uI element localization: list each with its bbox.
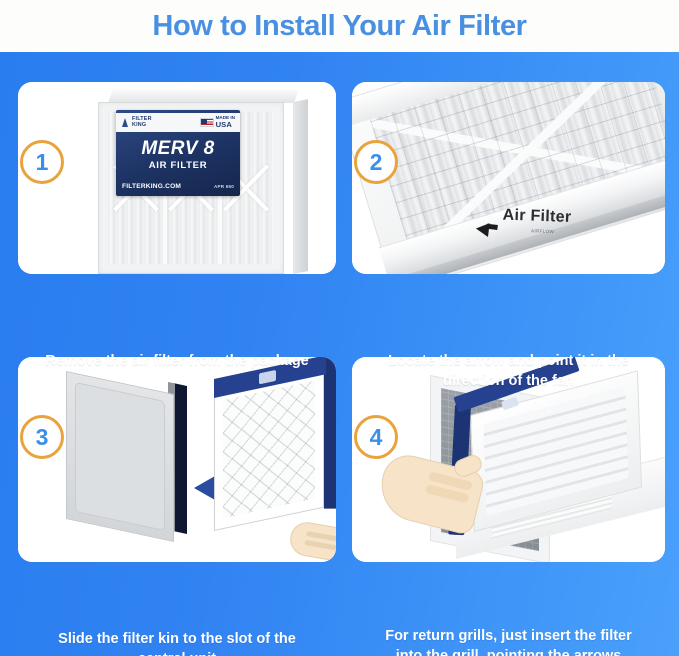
filter-frame <box>214 357 324 531</box>
merv-rating: MERV 8 <box>116 138 240 160</box>
step-caption-3: Slide the filter kin to the slot of the … <box>18 630 336 656</box>
caption-line: Slide the filter kin to the slot of the <box>18 630 336 650</box>
airflow-sub-text: AIRFLOW <box>531 228 554 234</box>
step-number-2: 2 <box>370 151 383 174</box>
hand-lower <box>288 520 336 562</box>
step-badge-2: 2 <box>354 140 398 184</box>
step-1-image: FILTER KING MADE IN USA <box>18 82 336 274</box>
angled-air-filter: Air Filter AIRFLOW <box>352 82 665 274</box>
made-in-usa-text: MADE IN USA <box>216 116 235 129</box>
air-filter-edge-text: Air Filter <box>502 207 571 227</box>
step-card-2: Air Filter AIRFLOW <box>352 82 665 274</box>
caption-line: direction of the fan <box>352 372 665 392</box>
unit-slot-opening <box>75 382 165 531</box>
made-in-usa-badge: MADE IN USA <box>200 116 235 129</box>
filter-blue-side-edge <box>324 357 336 509</box>
caption-line: Locate the arrow and point it in the <box>352 352 665 372</box>
label-header-strip: FILTER KING MADE IN USA <box>116 113 240 132</box>
product-type: AIR FILTER <box>116 160 240 171</box>
king-crown-icon <box>121 117 130 128</box>
step-badge-3: 3 <box>20 415 64 459</box>
caption-line: into the grill, pointing the arrows <box>352 647 665 656</box>
steps-grid: FILTER KING MADE IN USA <box>0 52 679 656</box>
infographic-page: How to Install Your Air Filter <box>0 0 679 656</box>
step-number-3: 3 <box>36 426 49 449</box>
unit-slot-depth <box>173 383 187 534</box>
filter-side-edge <box>293 99 308 274</box>
filter-being-inserted <box>214 357 324 531</box>
header-bar: How to Install Your Air Filter <box>0 0 679 52</box>
model-code: APR 650 <box>214 184 234 189</box>
step-number-1: 1 <box>36 151 49 174</box>
step-caption-1: Remove the air filter from the package <box>18 352 336 372</box>
brand-line-2: KING <box>132 123 152 129</box>
usa-flag-icon <box>200 118 214 127</box>
step-number-4: 4 <box>370 426 383 449</box>
filter-diamond-media <box>223 381 315 519</box>
label-footer-strip: FILTERKING.COM APR 650 <box>122 183 234 190</box>
step-caption-2: Locate the arrow and point it in the dir… <box>352 352 665 391</box>
country-label: USA <box>216 121 235 129</box>
step-3-image <box>18 357 336 562</box>
caption-line: Remove the air filter from the package <box>18 352 336 372</box>
air-filter-product: FILTER KING MADE IN USA <box>98 90 294 274</box>
caption-line: For return grills, just insert the filte… <box>352 627 665 647</box>
product-label: FILTER KING MADE IN USA <box>116 110 240 196</box>
step-caption-4: For return grills, just insert the filte… <box>352 627 665 656</box>
direction-arrow-head <box>194 476 215 500</box>
brand-text: FILTER KING <box>132 117 152 128</box>
caption-line: central unit <box>18 650 336 656</box>
step-badge-4: 4 <box>354 415 398 459</box>
step-badge-1: 1 <box>20 140 64 184</box>
filter-king-logo: FILTER KING <box>121 117 152 128</box>
step-card-3 <box>18 357 336 562</box>
step-2-image: Air Filter AIRFLOW <box>352 82 665 274</box>
website-url: FILTERKING.COM <box>122 183 181 190</box>
step-card-1: FILTER KING MADE IN USA <box>18 82 336 274</box>
central-unit-panel <box>66 371 174 542</box>
page-title: How to Install Your Air Filter <box>152 10 526 43</box>
